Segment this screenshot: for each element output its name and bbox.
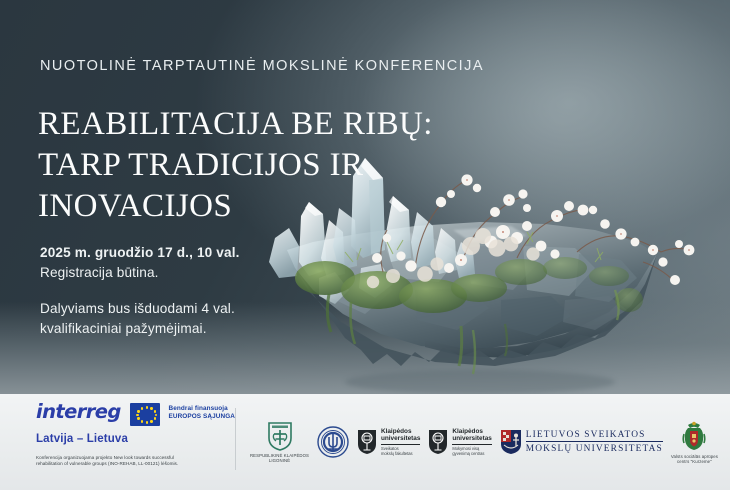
lsmu-title-line-1: LIETUVOS SVEIKATOS bbox=[526, 430, 663, 440]
partner-logo-valsts-socialas-aprupes-centrs-kurzeme: Valsts sociālās aprūpes centrs "Kurzeme" bbox=[671, 420, 718, 465]
certificate-note-line-2: kvalifikaciniai pažymėjimai. bbox=[40, 319, 340, 339]
hospital-shield-icon bbox=[267, 421, 293, 451]
hospital-caption-line-2: LIGONINĖ bbox=[250, 458, 309, 463]
ku-smf-text: Klaipėdos universitetas Sveikatos mokslų… bbox=[381, 428, 420, 457]
ku-mvgc-text: Klaipėdos universitetas Mokymosi visą gy… bbox=[452, 428, 491, 457]
partner-logo-klaipedos-universitetas-seal bbox=[317, 426, 349, 458]
event-date: 2025 m. gruodžio 17 d., 10 val. bbox=[40, 243, 340, 263]
conference-kicker: NUOTOLINĖ TARPTAUTINĖ MOKSLINĖ KONFERENC… bbox=[40, 58, 484, 74]
partner-logo-respublikine-klaipedos-ligonine: RESPUBLIKINĖ KLAIPĖDOS LIGONINĖ bbox=[250, 421, 309, 464]
lsmu-coat-of-arms-icon bbox=[500, 429, 522, 455]
lsmu-rule bbox=[526, 441, 663, 442]
project-fineprint: Konferencija organizuojama projekto New … bbox=[36, 455, 226, 467]
interreg-lockup: interreg Bendrai finansuoja bbox=[36, 402, 235, 426]
ku-smf-title-line-2: universitetas bbox=[381, 435, 420, 442]
ku-smf-sub-line-2: mokslų fakultetas bbox=[381, 451, 420, 456]
poster-footer: interreg Bendrai finansuoja bbox=[0, 394, 730, 490]
certificate-note-line-1: Dalyviams bus išduodami 4 val. bbox=[40, 299, 340, 319]
eu-flag-icon bbox=[130, 403, 160, 426]
ku-mvgc-title-line-2: universitetas bbox=[452, 435, 491, 442]
title-line-2: TARP TRADICIJOS IR bbox=[38, 145, 468, 186]
lsmu-text: LIETUVOS SVEIKATOS MOKSLŲ UNIVERSITETAS bbox=[526, 430, 663, 454]
eu-funding-caption: Bendrai finansuoja EUROPOS SĄJUNGA bbox=[169, 402, 235, 421]
conference-poster: NUOTOLINĖ TARPTAUTINĖ MOKSLINĖ KONFERENC… bbox=[0, 0, 730, 490]
partner-logo-lietuvos-sveikatos-mokslu-universitetas: LIETUVOS SVEIKATOS MOKSLŲ UNIVERSITETAS bbox=[500, 429, 663, 455]
ku-mvgc-sub-line-2: gyvenimą centras bbox=[452, 451, 491, 456]
event-details: 2025 m. gruodžio 17 d., 10 val. Registra… bbox=[40, 243, 340, 339]
interreg-funding-block: interreg Bendrai finansuoja bbox=[0, 394, 235, 467]
partner-logo-ku-mokymosi-visa-gyvenima-centras: Klaipėdos universitetas Mokymosi visą gy… bbox=[428, 428, 491, 457]
university-seal-icon bbox=[317, 426, 349, 458]
ku-crest-icon bbox=[428, 429, 448, 455]
title-line-3: INOVACIJOS bbox=[38, 186, 468, 227]
kurzeme-caption-line-2: centrs "Kurzeme" bbox=[671, 459, 718, 464]
page-title: REABILITACIJA BE RIBŲ: TARP TRADICIJOS I… bbox=[38, 104, 468, 227]
ku-smf-rule bbox=[381, 444, 420, 445]
ku-mvgc-rule bbox=[452, 444, 491, 445]
ku-crest-icon bbox=[357, 429, 377, 455]
eu-caption-line-2: EUROPOS SĄJUNGA bbox=[169, 413, 235, 421]
partner-logos: RESPUBLIKINĖ KLAIPĖDOS LIGONINĖ bbox=[236, 394, 730, 484]
fineprint-line-2: rehabilitation of vulnerable groups (INO… bbox=[36, 461, 226, 467]
kurzeme-logo-caption: Valsts sociālās aprūpes centrs "Kurzeme" bbox=[671, 454, 718, 465]
kurzeme-coat-of-arms-icon bbox=[679, 420, 709, 452]
title-line-1: REABILITACIJA BE RIBŲ: bbox=[38, 104, 468, 145]
details-spacer bbox=[40, 283, 340, 299]
interreg-programme-name: Latvija – Lietuva bbox=[36, 433, 235, 445]
ku-mvgc-title-line-1: Klaipėdos bbox=[452, 428, 491, 435]
hospital-logo-caption: RESPUBLIKINĖ KLAIPĖDOS LIGONINĖ bbox=[250, 453, 309, 464]
lsmu-title-line-2: MOKSLŲ UNIVERSITETAS bbox=[526, 444, 663, 454]
ku-smf-title-line-1: Klaipėdos bbox=[381, 428, 420, 435]
eu-caption-line-1: Bendrai finansuoja bbox=[169, 405, 235, 413]
registration-note: Registracija būtina. bbox=[40, 263, 340, 283]
interreg-wordmark: interreg bbox=[36, 402, 121, 421]
partner-logo-ku-sveikatos-mokslu-fakultetas: Klaipėdos universitetas Sveikatos mokslų… bbox=[357, 428, 420, 457]
